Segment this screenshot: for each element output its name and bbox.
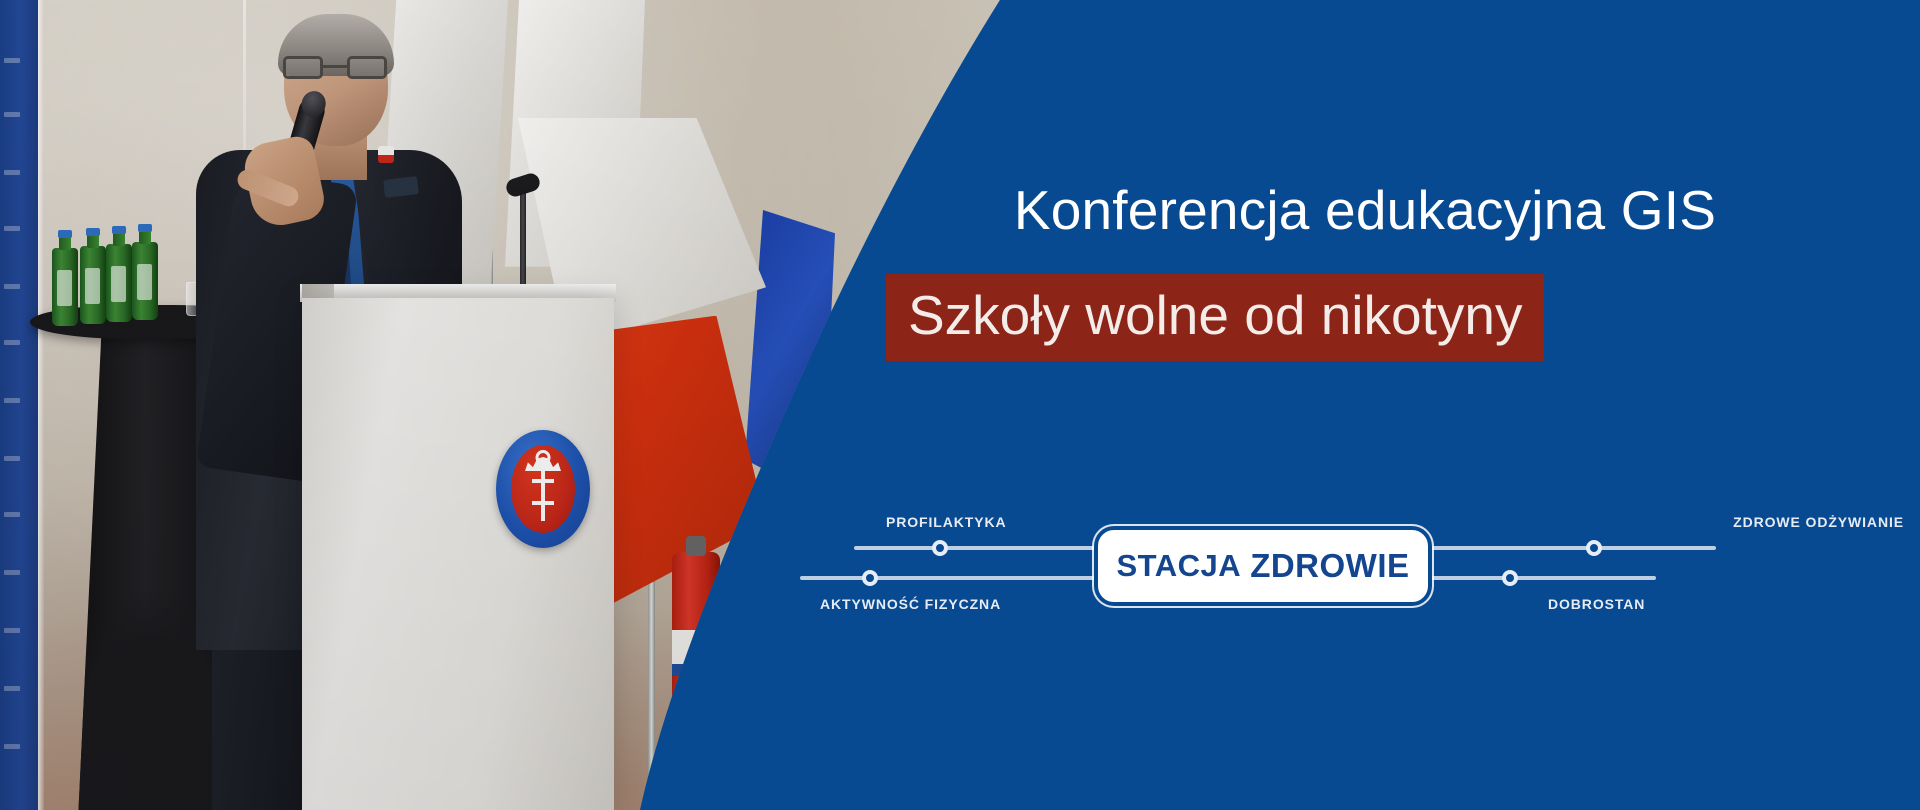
water-bottle — [80, 246, 106, 324]
gumed-emblem-icon — [496, 430, 590, 548]
water-bottle — [132, 242, 158, 320]
logo-label-aktywnosc-fizyczna: AKTYWNOŚĆ FIZYCZNA — [820, 596, 1001, 612]
conference-banner: Konferencja edukacyjna GIS Szkoły wolne … — [0, 0, 1920, 810]
logo-node-icon-right-bottom — [1502, 570, 1518, 586]
stacja-zdrowie-logo: PROFILAKTYKA AKTYWNOŚĆ FIZYCZNA ZDROWE O… — [800, 500, 1900, 640]
logo-word-zdrowie: ZDROWIE — [1250, 547, 1409, 585]
page-title: Konferencja edukacyjna GIS — [860, 178, 1870, 242]
water-bottle — [52, 248, 78, 326]
logo-node-icon-left-bottom — [862, 570, 878, 586]
logo-node-icon-left-top — [932, 540, 948, 556]
podium — [302, 298, 614, 810]
subtitle-highlight-banner: Szkoły wolne od nikotyny — [886, 274, 1544, 361]
flag-lapel-pin — [378, 146, 394, 163]
logo-line-right-top — [1426, 546, 1716, 550]
logo-line-right-bottom — [1426, 576, 1656, 580]
eyeglasses-icon — [283, 56, 387, 80]
water-bottle — [106, 244, 132, 322]
rollup-banner — [0, 0, 38, 810]
logo-node-icon-right-top — [1586, 540, 1602, 556]
logo-label-profilaktyka: PROFILAKTYKA — [886, 514, 1006, 530]
logo-nameplate: STACJA ZDROWIE — [1098, 530, 1428, 602]
logo-label-zdrowe-odzywianie: ZDROWE ODŻYWIANIE — [1733, 514, 1904, 530]
rollup-banner-edge — [38, 0, 44, 810]
logo-label-dobrostan: DOBROSTAN — [1548, 596, 1645, 612]
logo-line-left-top — [854, 546, 1104, 550]
logo-line-left-bottom — [800, 576, 1110, 580]
logo-word-stacja: STACJA — [1116, 548, 1241, 584]
